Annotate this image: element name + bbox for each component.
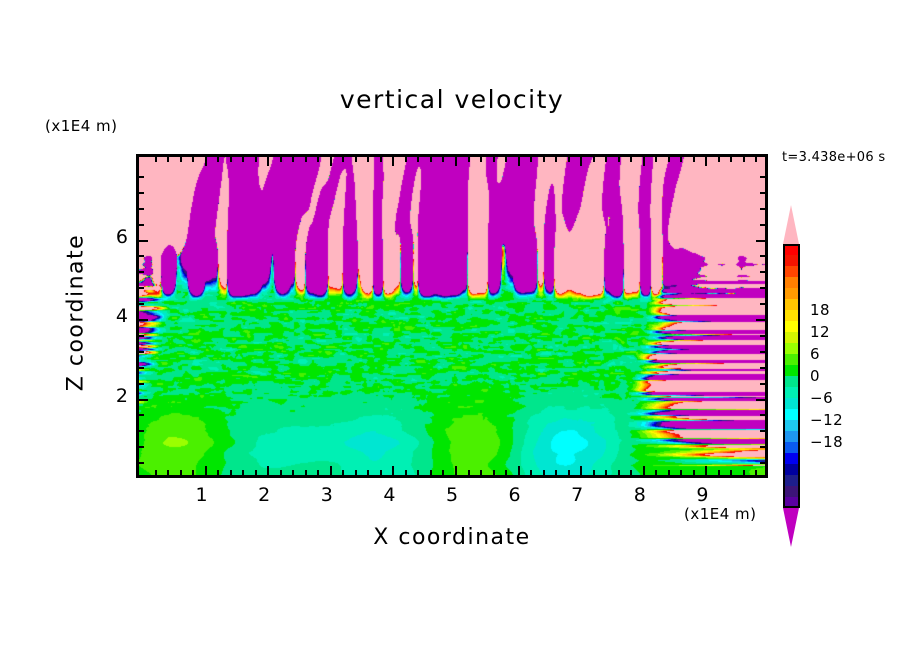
x-tick-minor-top xyxy=(305,157,307,162)
x-tick-minor-top xyxy=(367,157,369,162)
x-tick-minor-top xyxy=(180,157,182,162)
x-tick-minor-top xyxy=(342,157,344,162)
colorbar-band xyxy=(783,387,800,398)
x-tick-major xyxy=(392,466,394,475)
x-tick-major xyxy=(518,466,520,475)
x-tick-major xyxy=(643,466,645,475)
x-tick-label: 7 xyxy=(571,484,583,506)
x-tick-minor-top xyxy=(405,157,407,162)
x-tick-minor xyxy=(530,470,532,475)
y-tick-minor xyxy=(139,430,144,432)
x-tick-minor-top xyxy=(480,157,482,162)
x-tick-minor-top xyxy=(468,157,470,162)
x-tick-minor-top xyxy=(618,157,620,162)
x-tick-minor xyxy=(380,470,382,475)
x-tick-minor-top xyxy=(593,157,595,162)
x-tick-minor-top xyxy=(355,157,357,162)
y-tick-major-right xyxy=(756,240,765,242)
colorbar-tick-label: 0 xyxy=(810,367,820,385)
x-tick-minor xyxy=(543,470,545,475)
x-tick-minor xyxy=(342,470,344,475)
y-tick-minor-right xyxy=(760,224,765,226)
x-tick-minor xyxy=(242,470,244,475)
x-tick-major-top xyxy=(330,157,332,166)
x-tick-minor xyxy=(230,470,232,475)
y-axis-title: Z coordinate xyxy=(64,213,89,413)
colorbar-band xyxy=(783,266,800,277)
x-tick-minor xyxy=(255,470,257,475)
x-tick-minor-top xyxy=(167,157,169,162)
y-tick-minor xyxy=(139,383,144,385)
x-tick-minor xyxy=(568,470,570,475)
colorbar-tick-label: 12 xyxy=(810,323,830,341)
y-tick-major xyxy=(139,399,148,401)
colorbar-band xyxy=(783,475,800,486)
x-tick-minor xyxy=(430,470,432,475)
y-tick-minor-right xyxy=(760,176,765,178)
x-tick-minor-top xyxy=(155,157,157,162)
x-tick-minor xyxy=(680,470,682,475)
y-tick-minor xyxy=(139,255,144,257)
y-axis-unit-label: (x1E4 m) xyxy=(45,117,118,135)
x-tick-minor-top xyxy=(755,157,757,162)
velocity-field-canvas xyxy=(139,157,765,475)
x-tick-minor-top xyxy=(655,157,657,162)
x-tick-minor-top xyxy=(442,157,444,162)
x-tick-minor-top xyxy=(217,157,219,162)
x-tick-minor xyxy=(555,470,557,475)
y-tick-minor-right xyxy=(760,446,765,448)
x-tick-minor xyxy=(355,470,357,475)
colorbar-band xyxy=(783,486,800,497)
y-tick-minor xyxy=(139,224,144,226)
x-tick-major xyxy=(580,466,582,475)
y-tick-minor-right xyxy=(760,335,765,337)
x-tick-minor xyxy=(618,470,620,475)
colorbar-tick-label: 18 xyxy=(810,301,830,319)
colorbar-band xyxy=(783,497,800,508)
colorbar-band xyxy=(783,409,800,420)
x-tick-minor xyxy=(367,470,369,475)
colorbar-band xyxy=(783,299,800,310)
x-tick-minor-top xyxy=(605,157,607,162)
x-tick-minor xyxy=(693,470,695,475)
x-tick-major-top xyxy=(518,157,520,166)
x-tick-label: 3 xyxy=(321,484,333,506)
x-tick-minor xyxy=(180,470,182,475)
x-tick-minor xyxy=(755,470,757,475)
x-tick-minor-top xyxy=(292,157,294,162)
x-tick-major-top xyxy=(705,157,707,166)
y-tick-minor xyxy=(139,303,144,305)
colorbar-tick-label: −18 xyxy=(810,433,843,451)
y-tick-minor-right xyxy=(760,414,765,416)
x-tick-major xyxy=(455,466,457,475)
x-tick-minor-top xyxy=(680,157,682,162)
colorbar xyxy=(783,244,800,508)
x-tick-label: 5 xyxy=(446,484,458,506)
x-tick-minor xyxy=(493,470,495,475)
x-tick-label: 2 xyxy=(258,484,270,506)
colorbar-band xyxy=(783,420,800,431)
x-tick-minor-top xyxy=(668,157,670,162)
y-tick-minor-right xyxy=(760,287,765,289)
x-tick-major xyxy=(205,466,207,475)
colorbar-band xyxy=(783,277,800,288)
y-tick-minor xyxy=(139,287,144,289)
x-tick-minor-top xyxy=(530,157,532,162)
y-tick-major xyxy=(139,240,148,242)
colorbar-band xyxy=(783,464,800,475)
timestamp-annotation: t=3.438e+06 s xyxy=(782,150,885,165)
colorbar-band xyxy=(783,255,800,266)
y-tick-minor xyxy=(139,446,144,448)
x-tick-minor-top xyxy=(430,157,432,162)
y-tick-minor xyxy=(139,367,144,369)
y-tick-major xyxy=(139,319,148,321)
x-tick-major xyxy=(267,466,269,475)
x-tick-minor-top xyxy=(280,157,282,162)
y-tick-label: 6 xyxy=(116,226,128,248)
x-tick-minor xyxy=(167,470,169,475)
x-tick-minor xyxy=(730,470,732,475)
x-tick-minor xyxy=(480,470,482,475)
x-tick-minor-top xyxy=(555,157,557,162)
colorbar-band xyxy=(783,354,800,365)
x-tick-label: 8 xyxy=(634,484,646,506)
x-tick-minor xyxy=(668,470,670,475)
x-tick-minor-top xyxy=(743,157,745,162)
x-tick-minor xyxy=(605,470,607,475)
x-tick-minor xyxy=(192,470,194,475)
y-tick-minor-right xyxy=(760,303,765,305)
colorbar-under-arrow xyxy=(783,508,799,547)
colorbar-band xyxy=(783,376,800,387)
colorbar-band xyxy=(783,244,800,255)
x-tick-minor-top xyxy=(255,157,257,162)
y-tick-major-right xyxy=(756,319,765,321)
colorbar-band xyxy=(783,365,800,376)
y-tick-major-right xyxy=(756,399,765,401)
y-tick-minor-right xyxy=(760,383,765,385)
x-tick-label: 9 xyxy=(696,484,708,506)
x-tick-minor xyxy=(405,470,407,475)
x-tick-minor xyxy=(317,470,319,475)
x-tick-major-top xyxy=(392,157,394,166)
y-tick-label: 2 xyxy=(116,385,128,407)
colorbar-band xyxy=(783,310,800,321)
x-tick-label: 1 xyxy=(196,484,208,506)
x-tick-minor xyxy=(292,470,294,475)
y-tick-label: 4 xyxy=(116,305,128,327)
colorbar-band xyxy=(783,442,800,453)
y-tick-minor xyxy=(139,335,144,337)
x-tick-minor xyxy=(280,470,282,475)
y-tick-minor-right xyxy=(760,208,765,210)
x-tick-minor xyxy=(743,470,745,475)
y-tick-minor-right xyxy=(760,430,765,432)
x-tick-minor xyxy=(442,470,444,475)
y-tick-minor-right xyxy=(760,192,765,194)
x-tick-minor-top xyxy=(630,157,632,162)
x-tick-minor xyxy=(593,470,595,475)
colorbar-band xyxy=(783,343,800,354)
y-tick-minor xyxy=(139,414,144,416)
page-title: vertical velocity xyxy=(0,85,904,114)
x-tick-minor-top xyxy=(718,157,720,162)
colorbar-tick-label: 6 xyxy=(810,345,820,363)
x-tick-minor xyxy=(655,470,657,475)
x-tick-label: 4 xyxy=(383,484,395,506)
colorbar-band xyxy=(783,431,800,442)
y-tick-minor-right xyxy=(760,351,765,353)
x-tick-minor xyxy=(630,470,632,475)
x-axis-title: X coordinate xyxy=(136,525,768,550)
x-tick-minor-top xyxy=(693,157,695,162)
colorbar-band xyxy=(783,321,800,332)
y-tick-minor xyxy=(139,351,144,353)
y-tick-minor xyxy=(139,271,144,273)
x-tick-minor xyxy=(468,470,470,475)
x-tick-major-top xyxy=(643,157,645,166)
colorbar-band xyxy=(783,398,800,409)
x-tick-minor-top xyxy=(493,157,495,162)
x-tick-minor-top xyxy=(230,157,232,162)
x-tick-minor xyxy=(718,470,720,475)
colorbar-band xyxy=(783,332,800,343)
x-tick-minor xyxy=(217,470,219,475)
x-tick-minor xyxy=(155,470,157,475)
x-tick-label: 6 xyxy=(509,484,521,506)
x-tick-minor-top xyxy=(543,157,545,162)
x-tick-major-top xyxy=(580,157,582,166)
x-tick-minor-top xyxy=(568,157,570,162)
x-tick-minor-top xyxy=(380,157,382,162)
colorbar-band xyxy=(783,288,800,299)
y-tick-minor xyxy=(139,462,144,464)
x-tick-minor-top xyxy=(192,157,194,162)
y-tick-minor xyxy=(139,208,144,210)
x-tick-minor-top xyxy=(505,157,507,162)
x-tick-major-top xyxy=(455,157,457,166)
x-tick-minor xyxy=(305,470,307,475)
y-tick-minor-right xyxy=(760,462,765,464)
x-tick-major xyxy=(705,466,707,475)
x-tick-minor-top xyxy=(242,157,244,162)
x-tick-minor-top xyxy=(730,157,732,162)
x-tick-major-top xyxy=(267,157,269,166)
x-tick-major-top xyxy=(205,157,207,166)
colorbar-over-arrow xyxy=(783,205,799,244)
x-tick-minor xyxy=(505,470,507,475)
colorbar-tick-label: −12 xyxy=(810,411,843,429)
colorbar-tick-label: −6 xyxy=(810,389,833,407)
x-axis-unit-label: (x1E4 m) xyxy=(684,505,757,523)
y-tick-minor-right xyxy=(760,271,765,273)
y-tick-minor xyxy=(139,176,144,178)
y-tick-minor-right xyxy=(760,255,765,257)
colorbar-band xyxy=(783,453,800,464)
x-tick-minor xyxy=(417,470,419,475)
contour-plot-area xyxy=(136,154,768,478)
x-tick-minor-top xyxy=(417,157,419,162)
y-tick-minor xyxy=(139,192,144,194)
x-tick-minor-top xyxy=(317,157,319,162)
y-tick-minor-right xyxy=(760,367,765,369)
x-tick-major xyxy=(330,466,332,475)
